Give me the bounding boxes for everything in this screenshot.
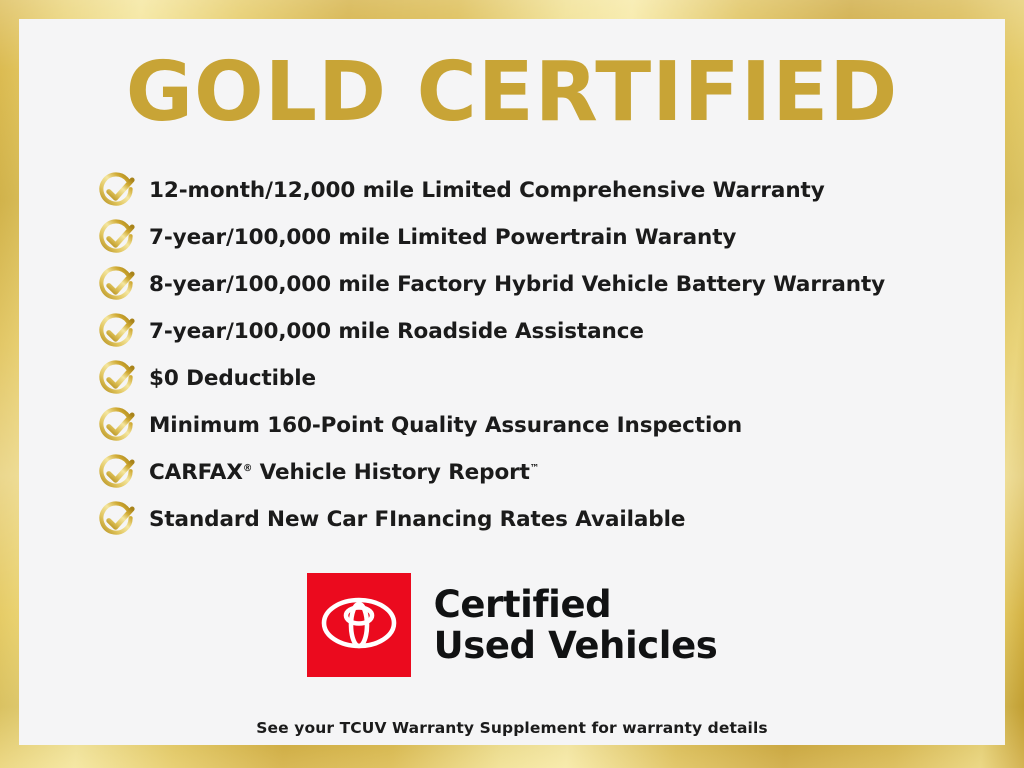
registered-mark: ® xyxy=(243,463,252,474)
certification-card: GOLD CERTIFIED xyxy=(19,19,1005,745)
benefit-label-carfax: CARFAX® Vehicle History Report™ xyxy=(149,460,539,485)
list-item: CARFAX® Vehicle History Report™ xyxy=(97,449,985,496)
gold-check-circle-icon xyxy=(97,170,149,212)
benefit-label: Minimum 160-Point Quality Assurance Insp… xyxy=(149,413,742,438)
carfax-brand: CARFAX xyxy=(149,460,243,485)
list-item: Minimum 160-Point Quality Assurance Insp… xyxy=(97,402,985,449)
benefit-label: 7-year/100,000 mile Roadside Assistance xyxy=(149,319,644,344)
gold-check-circle-icon xyxy=(97,452,149,494)
benefits-list: 12-month/12,000 mile Limited Comprehensi… xyxy=(97,167,985,543)
page-title: GOLD CERTIFIED xyxy=(19,49,1005,137)
benefit-label: 12-month/12,000 mile Limited Comprehensi… xyxy=(149,178,825,203)
benefit-label: Standard New Car FInancing Rates Availab… xyxy=(149,507,685,532)
list-item: 12-month/12,000 mile Limited Comprehensi… xyxy=(97,167,985,214)
toyota-emblem-icon xyxy=(320,594,398,657)
gold-check-circle-icon xyxy=(97,358,149,400)
lockup-line-1: Certified xyxy=(434,584,718,625)
list-item: 7-year/100,000 mile Roadside Assistance xyxy=(97,308,985,355)
benefit-label: $0 Deductible xyxy=(149,366,316,391)
lockup-line-2: Used Vehicles xyxy=(434,625,718,666)
gold-border-frame: GOLD CERTIFIED xyxy=(0,0,1024,768)
list-item: 7-year/100,000 mile Limited Powertrain W… xyxy=(97,214,985,261)
carfax-description: Vehicle History Report xyxy=(252,460,530,485)
list-item: Standard New Car FInancing Rates Availab… xyxy=(97,496,985,543)
benefit-label: 7-year/100,000 mile Limited Powertrain W… xyxy=(149,225,736,250)
toyota-logo-tile xyxy=(307,573,411,677)
gold-check-circle-icon xyxy=(97,405,149,447)
gold-check-circle-icon xyxy=(97,311,149,353)
benefit-label: 8-year/100,000 mile Factory Hybrid Vehic… xyxy=(149,272,885,297)
gold-check-circle-icon xyxy=(97,499,149,541)
gold-check-circle-icon xyxy=(97,217,149,259)
toyota-certified-used-vehicles-lockup: Certified Used Vehicles xyxy=(19,573,1005,677)
list-item: 8-year/100,000 mile Factory Hybrid Vehic… xyxy=(97,261,985,308)
list-item: $0 Deductible xyxy=(97,355,985,402)
lockup-wordmark: Certified Used Vehicles xyxy=(434,584,718,666)
gold-check-circle-icon xyxy=(97,264,149,306)
warranty-disclaimer: See your TCUV Warranty Supplement for wa… xyxy=(19,719,1005,737)
trademark-mark: ™ xyxy=(530,463,539,474)
